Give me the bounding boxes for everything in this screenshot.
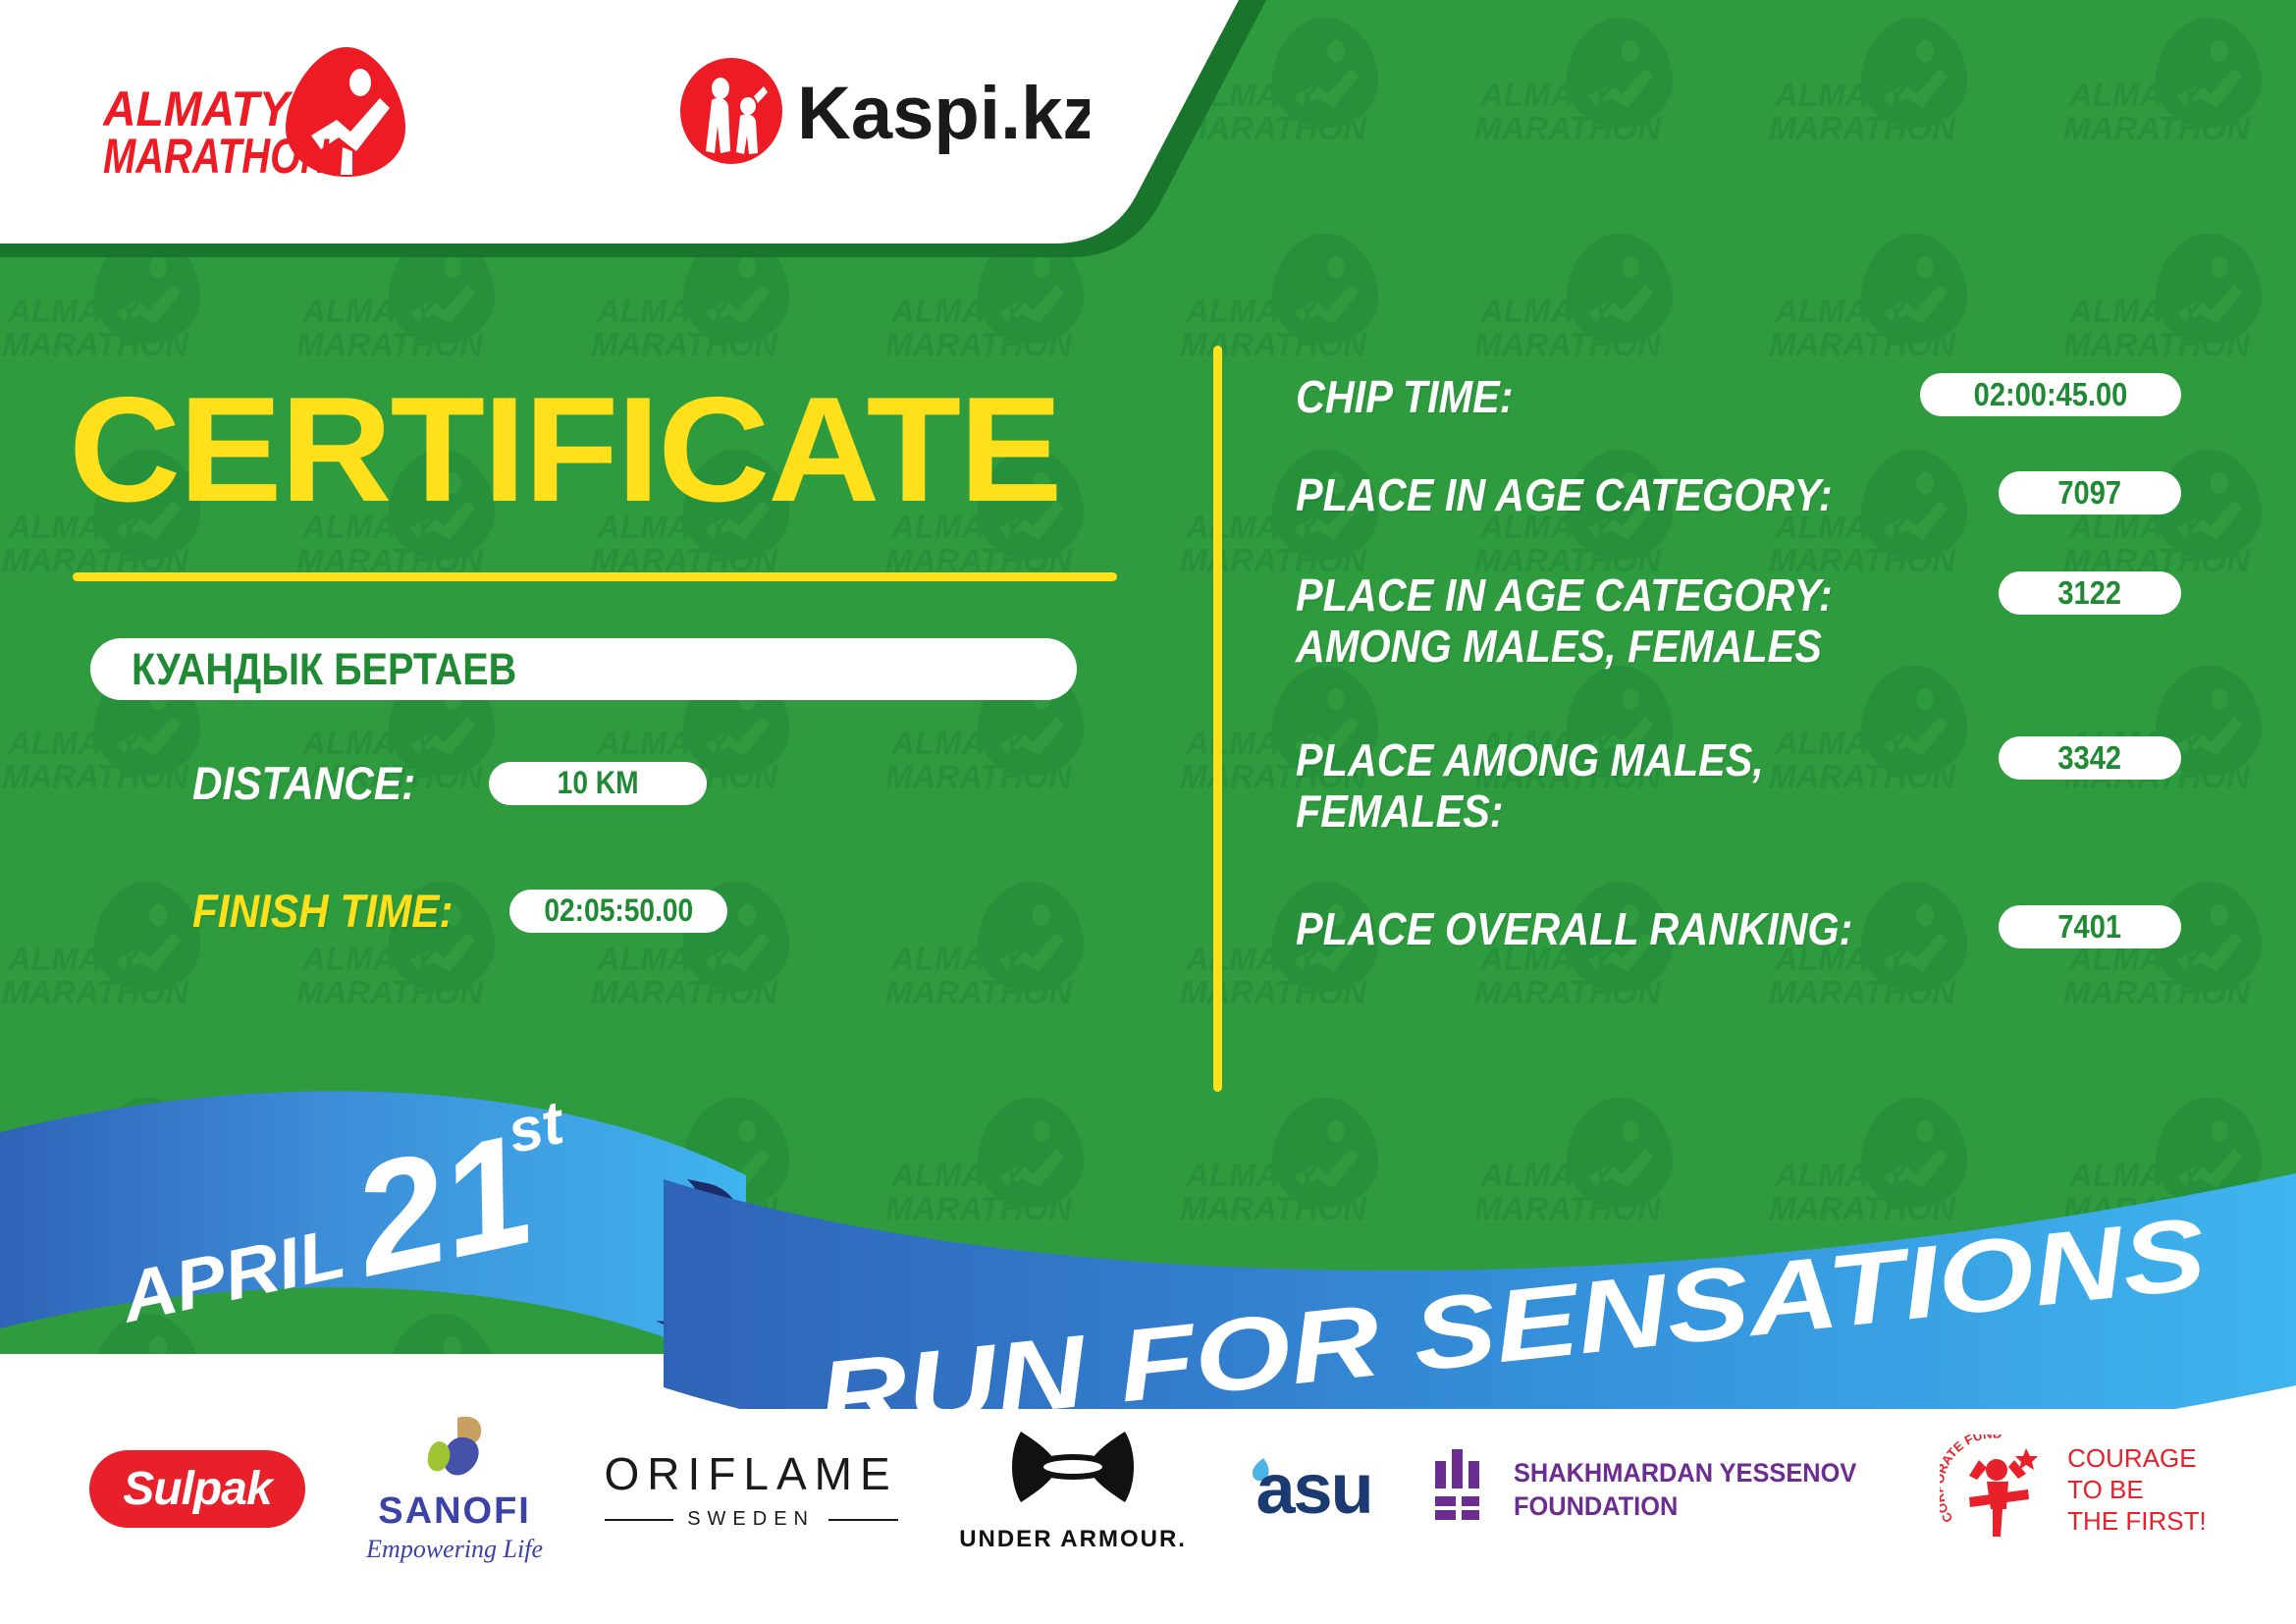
finish-time-value: 02:05:50.00 <box>544 893 693 929</box>
finish-time-label: FINISH TIME: <box>192 884 454 938</box>
page-title: CERTIFICATE <box>69 375 1060 524</box>
place-age-category-value: 7097 <box>2058 474 2122 512</box>
place-overall-ranking-value: 7401 <box>2058 908 2122 946</box>
distance-row: DISTANCE: 10 KM <box>192 756 707 810</box>
sponsor-oriflame: ORIFLAME SWEDEN <box>605 1447 898 1531</box>
left-column: CERTIFICATE КУАНДЫК БЕРТАЕВ DISTANCE: 10… <box>0 324 1188 1110</box>
sponsor-under-armour: UNDER ARMOUR. <box>959 1426 1187 1553</box>
distance-value: 10 KM <box>558 765 639 801</box>
distance-value-pill: 10 KM <box>489 762 707 805</box>
sponsor-courage-line1: COURAGE <box>2067 1442 2207 1474</box>
kaspi-wordmark: Kaspi.kz <box>797 72 1090 155</box>
sponsor-courage-label: COURAGE TO BE THE FIRST! <box>2067 1442 2207 1537</box>
sponsor-sulpak-label: Sulpak <box>123 1462 271 1516</box>
sponsor-courage-line3: THE FIRST! <box>2067 1505 2207 1537</box>
certificate-canvas: ALMATY MARATHON ALMATY MARATHON <box>0 0 2296 1624</box>
sponsor-yessenov-foundation: SHAKHMARDAN YESSENOV FOUNDATION <box>1433 1447 1879 1532</box>
place-age-category-value-pill: 7097 <box>1999 471 2181 514</box>
rule-right <box>828 1519 898 1521</box>
place-among-males-females-label: PLACE AMONG MALES, FEMALES: <box>1296 734 1764 837</box>
sponsor-corporate-fund-courage: CORPORATE FUND COURAGE TO BE THE FIRST! <box>1940 1435 2207 1544</box>
sponsor-sulpak: Sulpak <box>89 1450 304 1528</box>
athlete-name-value: КУАНДЫК БЕРТАЕВ <box>132 644 516 695</box>
place-among-males-females-value-pill: 3342 <box>1999 736 2181 780</box>
chip-time-value: 02:00:45.00 <box>1974 376 2128 413</box>
sponsor-oriflame-sub: SWEDEN <box>687 1508 815 1531</box>
event-ribbon: APRIL 21 st RUN FOR SENSATIONS <box>0 1085 2296 1409</box>
athlete-name-field: КУАНДЫК БЕРТАЕВ <box>90 638 1077 700</box>
almaty-marathon-logo: ALMATY MARATHON <box>103 41 407 179</box>
sanofi-mark-icon <box>410 1414 499 1487</box>
kaspi-logo: Kaspi.kz <box>677 57 1090 165</box>
courage-runner-icon: CORPORATE FUND <box>1940 1435 2056 1544</box>
finish-time-value-pill: 02:05:50.00 <box>509 890 727 933</box>
svg-text:MARATHON: MARATHON <box>103 129 330 179</box>
place-age-category-label: PLACE IN AGE CATEGORY: <box>1296 469 1833 520</box>
column-divider <box>1213 346 1222 1092</box>
place-overall-ranking-label: PLACE OVERALL RANKING: <box>1296 903 1852 954</box>
place-overall-ranking-value-pill: 7401 <box>1999 905 2181 948</box>
sponsor-oriflame-sub-row: SWEDEN <box>605 1508 898 1531</box>
under-armour-mark-icon <box>999 1426 1147 1520</box>
distance-label: DISTANCE: <box>192 756 415 810</box>
sponsor-under-armour-label: UNDER ARMOUR. <box>959 1526 1187 1553</box>
finish-time-row: FINISH TIME: 02:05:50.00 <box>192 884 727 938</box>
place-age-category-among-value: 3122 <box>2058 574 2122 612</box>
sponsor-sanofi-tagline: Empowering Life <box>366 1535 543 1564</box>
sponsor-courage-line2: TO BE <box>2067 1474 2207 1505</box>
place-among-males-females-value: 3342 <box>2058 739 2122 777</box>
chip-time-value-pill: 02:00:45.00 <box>1920 373 2181 416</box>
sponsor-sanofi-label: SANOFI <box>378 1490 531 1533</box>
place-age-category-among-label: PLACE IN AGE CATEGORY: AMONG MALES, FEMA… <box>1296 569 1833 672</box>
title-underline <box>73 572 1117 581</box>
right-column: CHIP TIME: 02:00:45.00 PLACE IN AGE CATE… <box>1266 324 2248 1110</box>
sponsor-yessenov-line2: FOUNDATION <box>1514 1489 1856 1523</box>
sponsor-oriflame-label: ORIFLAME <box>605 1447 898 1500</box>
chip-time-label: CHIP TIME: <box>1296 371 1514 422</box>
rule-left <box>605 1519 674 1521</box>
yessenov-mark-icon <box>1433 1447 1492 1532</box>
kaspi-mark-icon <box>680 58 782 164</box>
sponsor-asu: asu <box>1248 1449 1371 1530</box>
sponsor-asu-label: asu <box>1255 1449 1371 1530</box>
place-age-category-among-value-pill: 3122 <box>1999 571 2181 615</box>
sponsor-yessenov-label: SHAKHMARDAN YESSENOV FOUNDATION <box>1514 1456 1856 1523</box>
sponsor-yessenov-line1: SHAKHMARDAN YESSENOV <box>1514 1456 1856 1489</box>
sponsor-sanofi: SANOFI Empowering Life <box>366 1414 543 1564</box>
